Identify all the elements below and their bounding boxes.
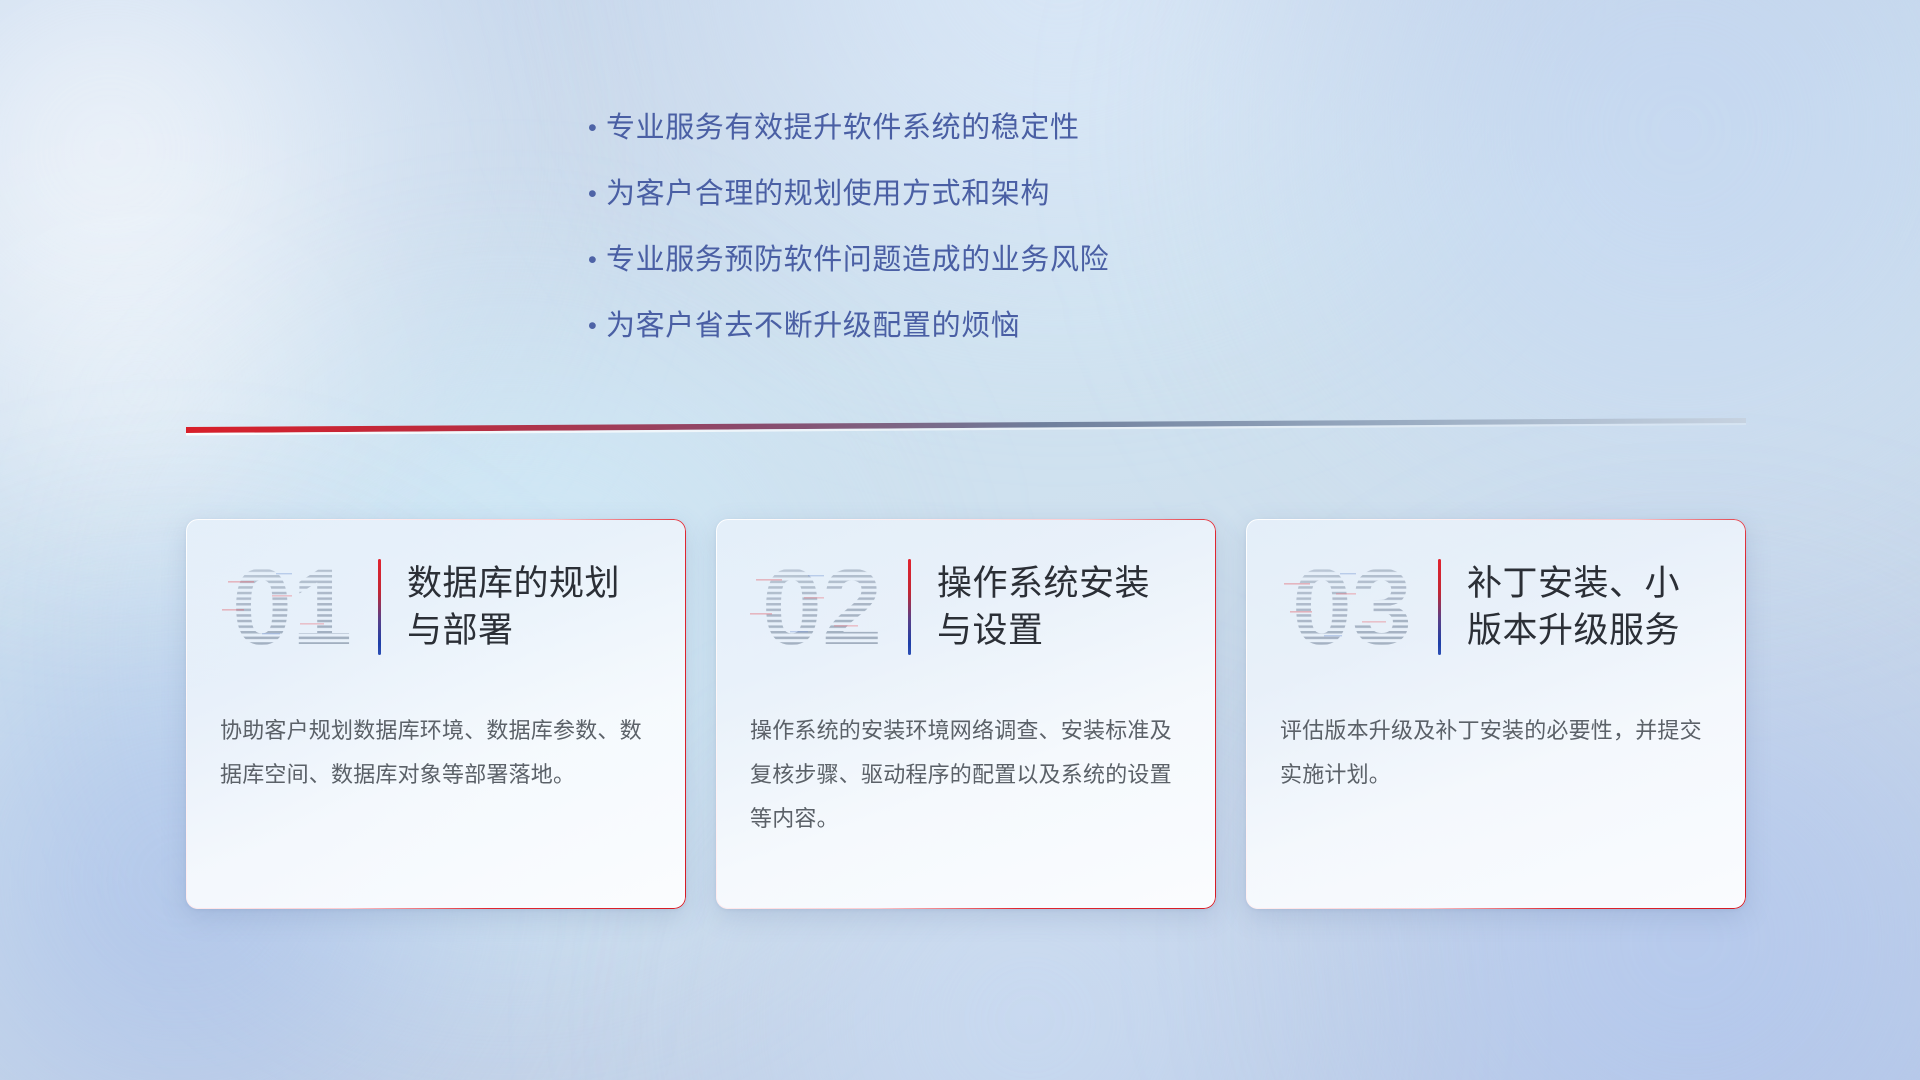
benefits-bullet-list: • 专业服务有效提升软件系统的稳定性 • 为客户合理的规划使用方式和架构 • 专… <box>0 108 1920 372</box>
card-header: 01 数据库的规划 与部署 <box>186 519 686 695</box>
tapered-gradient-rule-icon <box>186 418 1746 444</box>
striped-number-icon: 03 <box>1276 547 1428 667</box>
svg-text:02: 02 <box>762 547 882 667</box>
card-number-watermark-03: 03 <box>1276 547 1428 667</box>
service-cards: 01 数据库的规划 与部署 协助客户规划数据库环境、数据库参数、数据库空间、数据… <box>186 519 1746 909</box>
card-accent-bar <box>378 559 381 655</box>
card-title: 操作系统安装 与设置 <box>937 560 1190 654</box>
list-item: • 为客户合理的规划使用方式和架构 <box>580 174 1340 240</box>
list-item: • 为客户省去不断升级配置的烦恼 <box>580 306 1340 372</box>
card-body-text: 操作系统的安装环境网络调查、安装标准及复核步骤、驱动程序的配置以及系统的设置等内… <box>716 695 1216 841</box>
svg-text:03: 03 <box>1292 547 1412 667</box>
section-divider <box>186 418 1746 444</box>
card-header: 03 补丁安装、小 版本升级服务 <box>1246 519 1746 695</box>
bullet-text: 专业服务有效提升软件系统的稳定性 <box>606 108 1080 148</box>
card-title: 数据库的规划 与部署 <box>407 560 660 654</box>
bullet-point-icon: • <box>580 240 606 280</box>
striped-number-icon: 01 <box>216 547 368 667</box>
card-accent-bar <box>908 559 911 655</box>
card-body-text: 评估版本升级及补丁安装的必要性，并提交实施计划。 <box>1246 695 1746 797</box>
bullet-point-icon: • <box>580 174 606 214</box>
list-item: • 专业服务有效提升软件系统的稳定性 <box>580 108 1340 174</box>
svg-text:01: 01 <box>232 547 352 667</box>
card-number-watermark-01: 01 <box>216 547 368 667</box>
bullet-text: 为客户合理的规划使用方式和架构 <box>606 174 1050 214</box>
bullet-text: 为客户省去不断升级配置的烦恼 <box>606 306 1020 346</box>
card-number-watermark-02: 02 <box>746 547 898 667</box>
card-header: 02 操作系统安装 与设置 <box>716 519 1216 695</box>
card-title: 补丁安装、小 版本升级服务 <box>1467 560 1720 654</box>
service-card-03[interactable]: 03 补丁安装、小 版本升级服务 评估版本升级及补丁安装的必要性，并提交实施计划… <box>1246 519 1746 909</box>
striped-number-icon: 02 <box>746 547 898 667</box>
service-card-02[interactable]: 02 操作系统安装 与设置 操作系统的安装环境网络调查、安装标准及复核步骤、驱动… <box>716 519 1216 909</box>
list-item: • 专业服务预防软件问题造成的业务风险 <box>580 240 1340 306</box>
bullet-text: 专业服务预防软件问题造成的业务风险 <box>606 240 1109 280</box>
bullet-point-icon: • <box>580 108 606 148</box>
card-accent-bar <box>1438 559 1441 655</box>
bullet-point-icon: • <box>580 306 606 346</box>
service-card-01[interactable]: 01 数据库的规划 与部署 协助客户规划数据库环境、数据库参数、数据库空间、数据… <box>186 519 686 909</box>
card-body-text: 协助客户规划数据库环境、数据库参数、数据库空间、数据库对象等部署落地。 <box>186 695 686 797</box>
